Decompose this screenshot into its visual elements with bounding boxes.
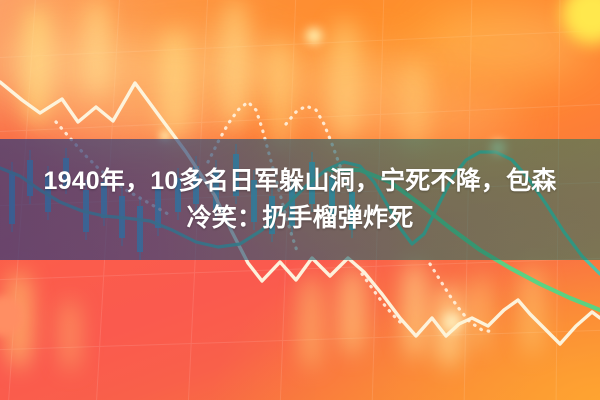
caption-line-2: 冷笑：扔手榴弹炸死 [187, 203, 414, 234]
caption-line-1: 1940年，10多名日军躲山洞，宁死不降，包森 [43, 166, 556, 197]
sun-top-right-glow [562, 0, 600, 44]
dot-low-right-glow [443, 313, 461, 331]
dot-upper-mid-glow [306, 28, 322, 44]
ring-bottom-left-glow [0, 296, 24, 336]
thumbnail-image: 1940年，10多名日军躲山洞，宁死不降，包森 冷笑：扔手榴弹炸死 [0, 0, 600, 400]
caption-text-block: 1940年，10多名日军躲山洞，宁死不降，包森 冷笑：扔手榴弹炸死 [0, 139, 600, 260]
